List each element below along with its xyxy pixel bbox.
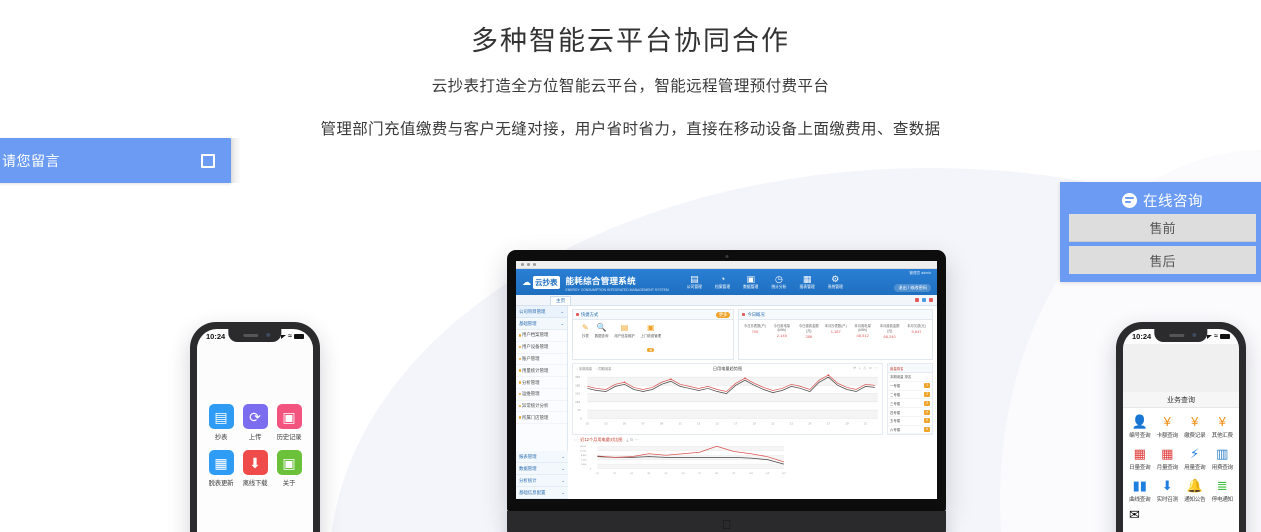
app-tile-history[interactable]: ▣ 历史记录 <box>272 404 306 441</box>
report-icon: ▦ <box>800 274 815 284</box>
online-consult-widget: 在线咨询 售前 售后 <box>1060 182 1261 282</box>
service-tile-label: 停电通知 <box>1209 495 1237 503</box>
app-user-area: 管理员 admin 退出 / 修改密码 <box>894 271 931 294</box>
folder-icon: ▤ <box>614 323 634 332</box>
yen-record-icon: ¥ <box>1181 414 1209 429</box>
service-tile-fee-query[interactable]: ▥ 用费查询 <box>1209 446 1237 471</box>
top-panels-row: 快捷方式 更多 ✎ 抄表 <box>572 309 933 363</box>
svg-text:27: 27 <box>827 421 831 425</box>
pencil-icon: ✎ <box>582 323 589 332</box>
bullet-icon <box>576 313 579 316</box>
quick-actions-list: ✎ 抄表 🔍 数据查询 ▤ <box>576 323 730 356</box>
service-tile-user-lookup[interactable]: 👤 编号查询 <box>1126 414 1154 439</box>
app-nav-bar: ▤ 公司管理 ◔ 档案管理 ▣ 数据管理 ◷ 统 <box>687 274 843 290</box>
app-system-name-main: 能耗综合管理系统 <box>566 276 636 286</box>
message-widget-shadow <box>231 138 241 183</box>
sidebar-bottom-groups: 报表管理 ⌄ 数据管理 ⌄ 分析统计 ⌄ <box>516 451 568 499</box>
sidebar-group-label: 数据管理 <box>519 466 537 472</box>
chart2-title: 近12个月用电量对比图 <box>580 437 622 442</box>
kpi-today-meters: 今日抄表数(户) 709 <box>742 323 767 339</box>
quick-action-label: 用户信息维护 <box>614 333 634 338</box>
service-tile-label: 日量查询 <box>1126 463 1154 471</box>
laptop-screen: ☁ 云抄表 能耗综合管理系统 ENERGY CONSUMPTION INTEGR… <box>516 261 937 499</box>
chevron-down-icon: ⌄ <box>561 466 565 472</box>
svg-text:140: 140 <box>575 400 580 404</box>
sidebar-item-store[interactable]: 所属门店管理 <box>516 412 567 424</box>
kpi-value: 5,647 <box>904 329 929 334</box>
svg-text:13: 13 <box>697 421 701 425</box>
quick-actions-body: ✎ 抄表 🔍 数据查询 ▤ <box>573 320 733 359</box>
app-nav-label: 报表管理 <box>800 285 815 290</box>
close-icon[interactable] <box>915 298 919 302</box>
table-row[interactable]: 一号楼1 <box>888 382 932 391</box>
download-icon: ⬇ <box>1154 478 1182 493</box>
browser-toolbar <box>516 261 937 269</box>
phone-left-app-grid: ▤ 抄表 ⟳ 上传 ▣ 历史记录 ▦ 脱表更新 ⬇ 离线下载 <box>197 400 313 487</box>
service-tile-consumption[interactable]: ⚡ 用量查询 <box>1181 446 1209 471</box>
kpi-today-payment: 今日缴费金额(元) 286 <box>796 323 821 339</box>
kpi-value: 286 <box>796 334 821 339</box>
kpi-month-meters: 本月抄表数(户) 1,187 <box>823 323 848 339</box>
app-tile-label: 历史记录 <box>272 432 306 441</box>
svg-text:05: 05 <box>623 421 627 425</box>
service-tile-label: 曲线查询 <box>1126 495 1154 503</box>
phone-right-screen: 10:24 ≈ 业务查询 👤 编号查询 ¥ 卡额查询 <box>1123 329 1239 532</box>
list-icon: ≣ <box>1209 478 1237 493</box>
svg-text:07: 07 <box>641 421 645 425</box>
refresh-icon[interactable] <box>929 298 933 302</box>
phone-right-service-grid: 👤 编号查询 ¥ 卡额查询 ¥ 缴费记录 ¥ 其他汇费 ▦ 日量查询 <box>1123 408 1239 503</box>
quick-action-data-query[interactable]: 🔍 数据查询 <box>595 323 609 356</box>
page-title: 多种智能云平台协同合作 <box>0 24 1261 58</box>
sidebar-group-label: 分析统计 <box>519 478 537 484</box>
kpi-panel: 今日概况 今日抄表数(户) 709 <box>738 309 933 360</box>
phone-right: 10:24 ≈ 业务查询 👤 编号查询 ¥ 卡额查询 <box>1116 322 1246 532</box>
phone-left-screen: 10:24 ≈ ▤ 抄表 ⟳ 上传 ▣ 历史记录 <box>197 329 313 532</box>
kpi-label: 本月抄表数(户) <box>823 323 848 328</box>
bar-chart-icon: ▮▮ <box>1126 478 1154 493</box>
sidebar-group-analytics[interactable]: 分析统计 ⌄ <box>516 475 568 487</box>
quick-action-user-maintenance[interactable]: ▤ 用户信息维护 <box>614 323 634 356</box>
app-logo-text: 云抄表 <box>533 276 560 289</box>
table-row[interactable]: 四号楼4 <box>888 408 932 417</box>
cart-icon: ▣ <box>641 323 661 332</box>
app-top-bar: ☁ 云抄表 能耗综合管理系统 ENERGY CONSUMPTION INTEGR… <box>516 269 937 295</box>
meter-reading-icon: ▤ <box>209 404 234 429</box>
svg-text:29: 29 <box>845 421 849 425</box>
kpi-label: 今日抄表数(户) <box>742 323 767 328</box>
kpi-month-arrears: 本月欠费(元) 5,647 <box>904 323 929 339</box>
table-row[interactable]: 二号楼2 <box>888 391 932 400</box>
leave-message-label: 请您留言 <box>2 151 60 171</box>
phone-right-status-icons: ≈ <box>1207 333 1230 340</box>
phone-left: 10:24 ≈ ▤ 抄表 ⟳ 上传 ▣ 历史记录 <box>190 322 320 532</box>
service-tile-label: 卡额查询 <box>1154 431 1182 439</box>
page-root: 多种智能云平台协同合作 云抄表打造全方位智能云平台，智能远程管理预付费平台 管理… <box>0 0 1261 532</box>
apple-logo-icon:  <box>722 518 732 531</box>
kpi-panel-header: 今日概况 <box>739 310 932 320</box>
service-tile-label: 用费查询 <box>1209 463 1237 471</box>
clock-icon: ◷ <box>771 274 786 284</box>
kpi-month-kwh: 本月用电量(kWh) 48,512 <box>850 323 875 339</box>
online-consult-header: 在线咨询 <box>1064 186 1261 214</box>
app-tab-controls <box>915 298 937 302</box>
chat-item-presale[interactable]: 售前 <box>1069 214 1256 242</box>
app-system-name-sub: ENERGY CONSUMPTION INTEGRATED MANAGEMENT… <box>566 289 669 293</box>
chevron-down-icon: ⌄ <box>561 454 565 460</box>
signal-icon <box>281 335 286 339</box>
chevron-down-icon: ⌄ <box>560 309 564 315</box>
app-tile-label: 脱表更新 <box>204 478 238 487</box>
battery-icon <box>1220 334 1230 339</box>
svg-text:2,800: 2,800 <box>581 464 587 466</box>
quick-action-label: 上门收费管理 <box>641 333 661 338</box>
chart1-header: ◌ 本期用量 ◌ 同期用量 日用电量趋势图 ⟳ ⤓ ⎙ ⊙ ⋯ <box>573 364 882 373</box>
chevron-down-icon: ⌄ <box>561 478 565 484</box>
app-system-name: 能耗综合管理系统 ENERGY CONSUMPTION INTEGRATED M… <box>566 272 669 292</box>
app-nav-label: 档案管理 <box>715 285 730 290</box>
chevron-down-icon: ⌄ <box>561 490 565 496</box>
service-tile-label: 月量查询 <box>1154 463 1182 471</box>
quick-action-label: 数据查询 <box>595 333 609 338</box>
online-consult-title: 在线咨询 <box>1143 190 1203 211</box>
kpi-list: 今日抄表数(户) 709 今日用电量(kWh) 2,145 <box>742 323 929 339</box>
browser-dot-icon <box>527 263 530 266</box>
app-nav-archive[interactable]: ◔ 档案管理 <box>715 274 730 290</box>
kpi-value: 2,145 <box>769 333 794 338</box>
kpi-label: 本月缴费金额(元) <box>877 323 902 333</box>
svg-text:70: 70 <box>577 408 581 412</box>
service-tile-outage[interactable]: ≣ 停电通知 <box>1209 478 1237 503</box>
wifi-icon: ≈ <box>1214 333 1218 340</box>
svg-text:11,200: 11,200 <box>579 451 587 453</box>
usage-rank-panel: 用量排名 本期用量 排名 一号楼1 二号楼2 三号楼3 四号楼4 五号楼5 六号… <box>887 363 933 435</box>
yen-icon: ¥ <box>1154 414 1182 429</box>
kpi-label: 今日用电量(kWh) <box>769 323 794 332</box>
phone-left-status-bar: 10:24 ≈ <box>197 329 313 344</box>
chevron-down-icon: ⌄ <box>560 321 564 327</box>
sidebar-header-label: 公司项目管理 <box>519 309 545 315</box>
archive-icon: ◔ <box>715 274 730 284</box>
usage-rank-subhead: 本期用量 排名 <box>888 373 932 382</box>
quick-actions-header: 快捷方式 更多 <box>573 310 733 320</box>
kpi-value: 709 <box>742 329 767 334</box>
sidebar-item-ops[interactable]: 运维管理 <box>516 389 567 401</box>
service-tile-label: 其他汇费 <box>1209 431 1237 439</box>
app-sidebar: 公司项目管理 ⌄ 基础管理 ⌄ 用户档案管理 用户设备管理 账户管理 用量统计管… <box>516 306 568 499</box>
app-tile-offline-download[interactable]: ⬇ 离线下载 <box>238 450 272 487</box>
chart1-toolbar[interactable]: ⟳ ⤓ ⎙ ⊙ ⋯ <box>853 366 879 370</box>
kpi-value: 68,240 <box>877 334 902 339</box>
app-tab-bar: 主页 <box>516 295 937 306</box>
data-icon: ▣ <box>743 274 758 284</box>
kpi-month-payment: 本月缴费金额(元) 68,240 <box>877 323 902 339</box>
svg-text:15: 15 <box>716 421 720 425</box>
svg-text:01: 01 <box>586 421 590 425</box>
sidebar-item-account[interactable]: 账户管理 <box>516 354 567 366</box>
history-icon: ▣ <box>277 404 302 429</box>
service-tile-payment-record[interactable]: ¥ 缴费记录 <box>1181 414 1209 439</box>
app-main-content: 快捷方式 更多 ✎ 抄表 <box>568 306 937 499</box>
svg-text:17: 17 <box>734 421 738 425</box>
minimize-icon[interactable] <box>922 298 926 302</box>
service-tile-daily-usage[interactable]: ▦ 日量查询 <box>1126 446 1154 471</box>
service-tile-label: 用量查询 <box>1181 463 1209 471</box>
sidebar-item-user-archive[interactable]: 用户档案管理 <box>516 330 567 342</box>
kpi-panel-body: 今日抄表数(户) 709 今日用电量(kWh) 2,145 <box>739 320 932 342</box>
user-icon: 👤 <box>1126 414 1154 429</box>
app-tile-upload[interactable]: ⟳ 上传 <box>238 404 272 441</box>
app-tile-label: 离线下载 <box>238 478 272 487</box>
page-header: 多种智能云平台协同合作 云抄表打造全方位智能云平台，智能远程管理预付费平台 管理… <box>0 0 1261 144</box>
kpi-label: 今日缴费金额(元) <box>796 323 821 333</box>
browser-dot-icon <box>521 263 524 266</box>
page-subtitle-line-1: 云抄表打造全方位智能云平台，智能远程管理预付费平台 <box>0 73 1261 101</box>
service-tile-realtime[interactable]: ⬇ 实时召测 <box>1154 478 1182 503</box>
sidebar-item-analysis[interactable]: 分析管理 <box>516 377 567 389</box>
svg-text:350: 350 <box>575 375 580 379</box>
calendar-day-icon: ▦ <box>1126 446 1154 461</box>
quick-action-label: 抄表 <box>582 333 589 338</box>
phone-right-section-title: 业务查询 <box>1123 392 1239 408</box>
kpi-label: 本月用电量(kWh) <box>850 323 875 332</box>
calendar-mon-icon: ▦ <box>1154 446 1182 461</box>
quick-actions-panel: 快捷方式 更多 ✎ 抄表 <box>572 309 734 360</box>
app-tile-label: 抄表 <box>204 432 238 441</box>
svg-text:11: 11 <box>679 421 683 425</box>
sidebar-group-label: 报表管理 <box>519 454 537 460</box>
svg-text:14,000: 14,000 <box>579 446 587 448</box>
quick-action-badge: 新 <box>647 348 654 352</box>
yen-other-icon: ¥ <box>1209 414 1237 429</box>
quick-action-door-charge[interactable]: ▣ 上门收费管理 新 <box>641 323 661 356</box>
table-row[interactable]: 五号楼5 <box>888 417 932 426</box>
sidebar-group-report[interactable]: 报表管理 ⌄ <box>516 451 568 463</box>
svg-text:0: 0 <box>580 416 582 420</box>
phone-right-hero-banner <box>1123 344 1239 392</box>
svg-text:03: 03 <box>604 421 608 425</box>
upload-icon: ⟳ <box>243 404 268 429</box>
chart2-header: ◌◌ 近12个月用电量对比图 ⤓ ⊙ ⋯ <box>572 435 933 444</box>
laptop-mockup: ☁ 云抄表 能耗综合管理系统 ENERGY CONSUMPTION INTEGR… <box>507 250 946 532</box>
phone-left-hero <box>197 344 313 400</box>
app-nav-settings[interactable]: ⚙ 系统管理 <box>828 274 843 290</box>
app-tile-meter-reading[interactable]: ▤ 抄表 <box>204 404 238 441</box>
chat-bubble-icon <box>1122 193 1137 208</box>
tab-home[interactable]: 主页 <box>550 296 571 305</box>
quick-actions-more-button[interactable]: 更多 <box>716 312 731 318</box>
svg-text:19: 19 <box>753 421 757 425</box>
search-icon: 🔍 <box>595 323 609 332</box>
svg-text:09: 09 <box>660 421 664 425</box>
app-logo[interactable]: ☁ 云抄表 <box>522 276 560 289</box>
phone-right-time: 10:24 <box>1132 332 1151 341</box>
phone-left-time: 10:24 <box>206 332 225 341</box>
sidebar-group-label: 基础信息配置 <box>519 490 545 496</box>
chart1-row: ◌ 本期用量 ◌ 同期用量 日用电量趋势图 ⟳ ⤓ ⎙ ⊙ ⋯ <box>572 363 933 435</box>
sidebar-item-device[interactable]: 用户设备管理 <box>516 342 567 354</box>
svg-text:25: 25 <box>808 421 812 425</box>
service-tile-label: 通知公告 <box>1181 495 1209 503</box>
laptop-base:  <box>507 511 946 532</box>
app-user-line: 管理员 admin <box>894 271 931 276</box>
chart2-toolbar[interactable]: ⤓ ⊙ ⋯ <box>627 437 639 442</box>
app-tile-about[interactable]: ▣ 关于 <box>272 450 306 487</box>
about-icon: ▣ <box>277 450 302 475</box>
svg-text:31: 31 <box>864 421 868 425</box>
app-nav-label: 公司管理 <box>687 285 702 290</box>
app-body: 公司项目管理 ⌄ 基础管理 ⌄ 用户档案管理 用户设备管理 账户管理 用量统计管… <box>516 306 937 499</box>
service-tile-label: 编号查询 <box>1126 431 1154 439</box>
sidebar-group-label: 基础管理 <box>519 321 537 327</box>
chart2-canvas: 14,00011,200 8,4005,600 2,8000 1月2月3月 4月… <box>572 444 796 478</box>
sidebar-group-basic[interactable]: 基础管理 ⌄ <box>516 318 567 330</box>
service-tile-notice[interactable]: 🔔 通知公告 <box>1181 478 1209 503</box>
kpi-panel-title: 今日概况 <box>742 312 764 318</box>
chart-monthly-compare-panel: ◌◌ 近12个月用电量对比图 ⤓ ⊙ ⋯ <box>572 435 933 478</box>
app-nav-label: 统计分析 <box>771 285 786 290</box>
leave-message-widget[interactable]: 请您留言 <box>0 138 231 183</box>
app-nav-label: 数据管理 <box>743 285 758 290</box>
usage-rank-header: 用量排名 <box>888 364 932 373</box>
cloud-icon: ☁ <box>522 277 531 288</box>
service-tile-label: 实时召测 <box>1154 495 1182 503</box>
battery-icon <box>294 334 304 339</box>
browser-dot-icon <box>533 263 536 266</box>
chart1-title: 日用电量趋势图 <box>713 366 742 371</box>
app-user-actions[interactable]: 退出 / 修改密码 <box>894 284 931 292</box>
chart1-legend: ◌ 本期用量 ◌ 同期用量 <box>576 366 611 371</box>
app-nav-company[interactable]: ▤ 公司管理 <box>687 274 702 290</box>
sidebar-group-data[interactable]: 数据管理 ⌄ <box>516 463 568 475</box>
app-tile-label: 上传 <box>238 432 272 441</box>
kpi-value: 1,187 <box>823 329 848 334</box>
svg-text:210: 210 <box>575 392 580 396</box>
sidebar-group-config[interactable]: 基础信息配置 ⌄ <box>516 487 568 499</box>
bell-icon: 🔔 <box>1181 478 1209 493</box>
svg-text:280: 280 <box>575 383 580 387</box>
kpi-label: 本月欠费(元) <box>904 323 929 328</box>
svg-text:5,600: 5,600 <box>581 460 587 462</box>
phone-left-status-icons: ≈ <box>281 333 304 340</box>
quick-action-meter-reading[interactable]: ✎ 抄表 <box>582 323 589 356</box>
app-tile-label: 关于 <box>272 478 306 487</box>
table-row[interactable]: 三号楼3 <box>888 399 932 408</box>
app-nav-stats[interactable]: ◷ 统计分析 <box>771 274 786 290</box>
sidebar-header[interactable]: 公司项目管理 ⌄ <box>516 306 567 318</box>
kpi-today-kwh: 今日用电量(kWh) 2,145 <box>769 323 794 339</box>
chart1-canvas: 350280 210140 700 010305 070911 131517 1… <box>573 373 882 431</box>
webcam-icon <box>725 255 728 258</box>
chat-item-aftersale[interactable]: 售后 <box>1069 246 1256 274</box>
sidebar-item-usage-stats[interactable]: 用量统计管理 <box>516 365 567 377</box>
svg-text:23: 23 <box>790 421 794 425</box>
app-nav-data[interactable]: ▣ 数据管理 <box>743 274 758 290</box>
svg-text:21: 21 <box>771 421 775 425</box>
bolt-icon: ⚡ <box>1181 446 1209 461</box>
cloud-download-icon: ⬇ <box>243 450 268 475</box>
square-icon[interactable] <box>201 154 215 168</box>
kpi-value: 48,512 <box>850 333 875 338</box>
card-icon: ▥ <box>1209 446 1237 461</box>
service-tile-label: 缴费记录 <box>1181 431 1209 439</box>
table-row[interactable]: 六号楼6 <box>888 426 932 435</box>
chart-daily-usage: ◌ 本期用量 ◌ 同期用量 日用电量趋势图 ⟳ ⤓ ⎙ ⊙ ⋯ <box>572 363 883 435</box>
app-tile-sync-meter[interactable]: ▦ 脱表更新 <box>204 450 238 487</box>
signal-icon <box>1207 335 1212 339</box>
service-tile-monthly-usage[interactable]: ▦ 月量查询 <box>1154 446 1182 471</box>
service-tile-balance[interactable]: ¥ 卡额查询 <box>1154 414 1182 439</box>
laptop-lid: ☁ 云抄表 能耗综合管理系统 ENERGY CONSUMPTION INTEGR… <box>507 250 946 511</box>
quick-actions-title: 快捷方式 <box>576 312 598 318</box>
svg-text:8,400: 8,400 <box>581 455 587 457</box>
wifi-icon: ≈ <box>288 333 292 340</box>
app-nav-report[interactable]: ▦ 报表管理 <box>800 274 815 290</box>
company-icon: ▤ <box>687 274 702 284</box>
phone-right-status-bar: 10:24 ≈ <box>1123 329 1239 344</box>
service-tile-other-fee[interactable]: ¥ 其他汇费 <box>1209 414 1237 439</box>
app-nav-label: 系统管理 <box>828 285 843 290</box>
mail-icon[interactable]: ✉ <box>1123 503 1239 523</box>
service-tile-curve[interactable]: ▮▮ 曲线查询 <box>1126 478 1154 503</box>
sync-meter-icon: ▦ <box>209 450 234 475</box>
sidebar-item-exception[interactable]: 异常统计分析 <box>516 401 567 413</box>
settings-icon: ⚙ <box>828 274 843 284</box>
bullet-icon <box>742 313 745 316</box>
